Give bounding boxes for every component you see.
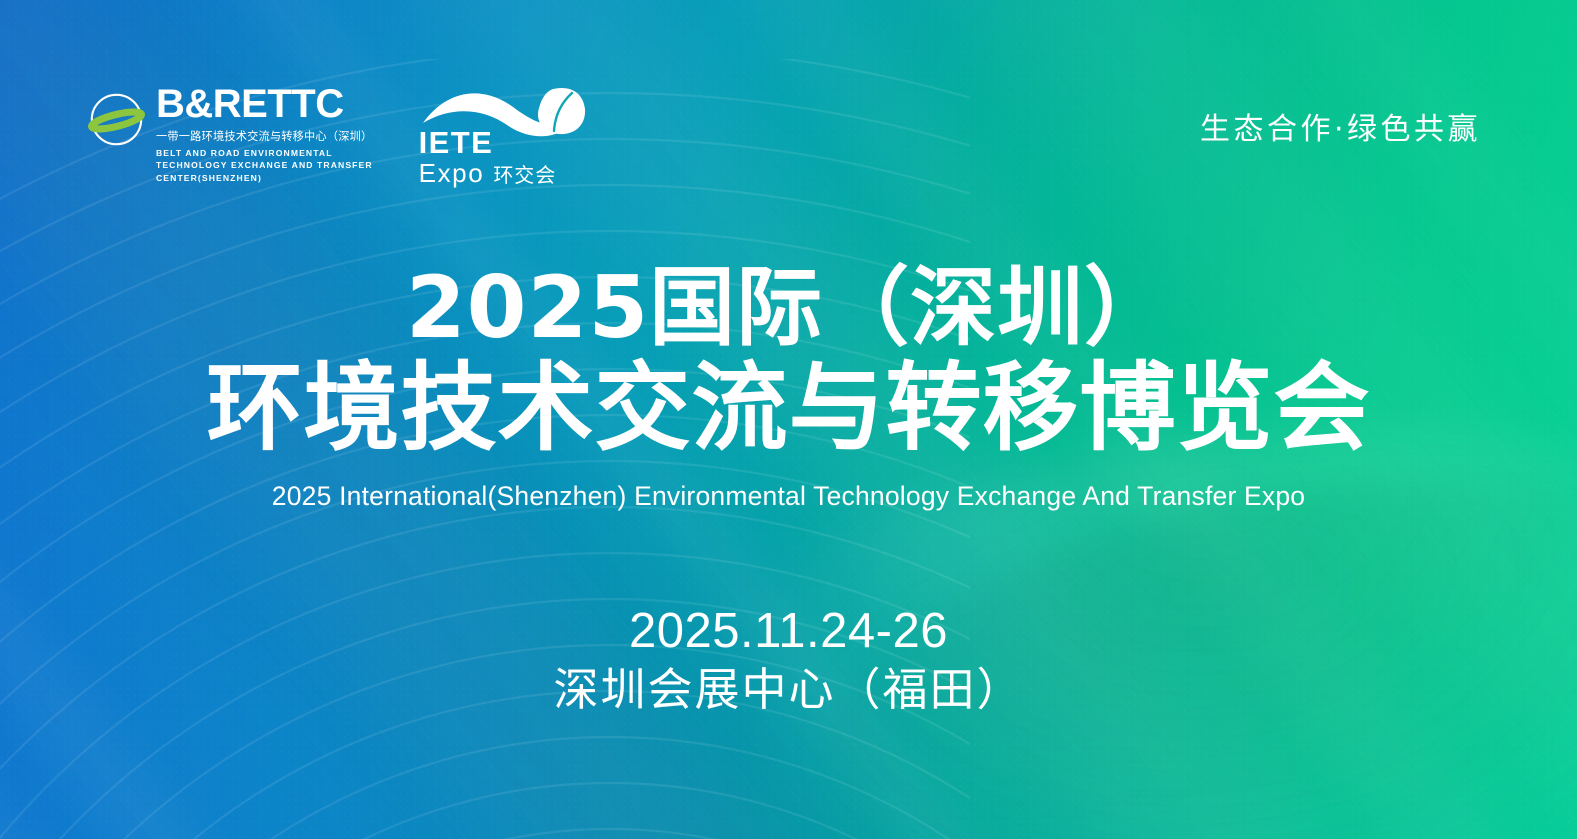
brettc-english-line-2: TECHNOLOGY EXCHANGE AND TRANSFER <box>156 159 373 171</box>
title-line-2: 环境技术交流与转移博览会 <box>0 357 1577 461</box>
event-banner: B&RETTC 一带一路环境技术交流与转移中心（深圳） BELT AND ROA… <box>0 0 1577 839</box>
subtitle-english: 2025 International(Shenzhen) Environment… <box>0 481 1577 512</box>
tagline: 生态合作·绿色共赢 <box>1200 104 1481 148</box>
event-venue: 深圳会展中心（福田） <box>0 663 1577 717</box>
brettc-wordmark: B&RETTC <box>156 85 373 124</box>
brettc-english-line-1: BELT AND ROAD ENVIRONMENTAL <box>156 147 373 159</box>
logo-row: B&RETTC 一带一路环境技术交流与转移中心（深圳） BELT AND ROA… <box>88 85 587 190</box>
brettc-english-name: BELT AND ROAD ENVIRONMENTAL TECHNOLOGY E… <box>156 147 373 184</box>
event-date: 2025.11.24-26 <box>0 604 1577 659</box>
brettc-text-block: B&RETTC 一带一路环境技术交流与转移中心（深圳） BELT AND ROA… <box>156 85 373 184</box>
title-block: 2025国际（深圳） 环境技术交流与转移博览会 2025 Internation… <box>0 262 1577 512</box>
globe-ring-icon <box>88 91 145 148</box>
iete-wordmark: IETE <box>419 127 557 158</box>
brettc-logo[interactable]: B&RETTC 一带一路环境技术交流与转移中心（深圳） BELT AND ROA… <box>88 85 373 184</box>
brettc-english-line-3: CENTER(SHENZHEN) <box>156 172 373 184</box>
event-info-block: 2025.11.24-26 深圳会展中心（福田） <box>0 604 1577 717</box>
iete-expo-logo[interactable]: IETE Expo 环交会 <box>417 85 587 190</box>
brettc-chinese-name: 一带一路环境技术交流与转移中心（深圳） <box>156 128 373 144</box>
iete-expo-label: Expo <box>419 160 485 186</box>
title-line-1: 2025国际（深圳） <box>0 262 1577 355</box>
iete-wordmark-block: IETE Expo 环交会 <box>419 127 557 186</box>
iete-chinese-label: 环交会 <box>493 165 556 185</box>
iete-subline: Expo 环交会 <box>419 160 557 186</box>
